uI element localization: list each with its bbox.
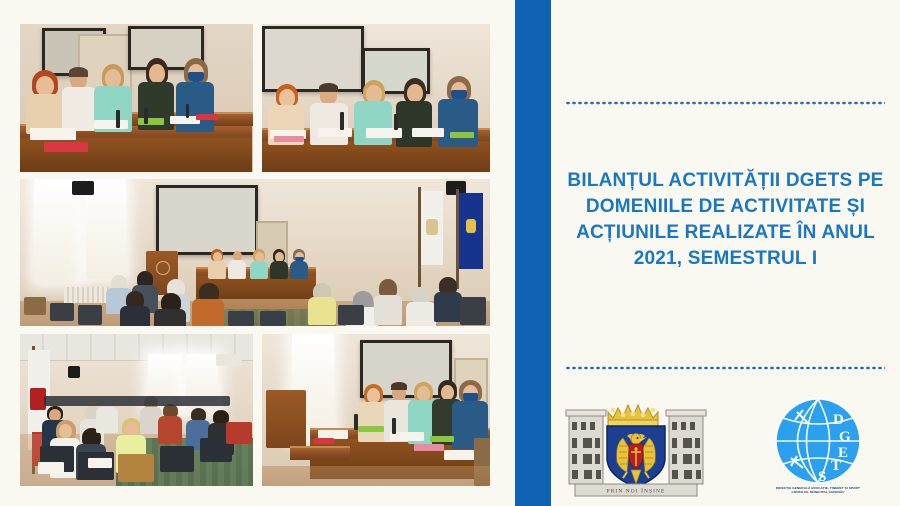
dgets-letter-s: S	[818, 469, 826, 485]
dgets-letter-t: T	[831, 458, 841, 474]
right-panel: BILANȚUL ACTIVITĂȚII DGETS PE DOMENIILE …	[551, 0, 900, 506]
logo-row: PRIN NOI ÎNȘINE	[551, 392, 900, 504]
title-line-1: BILANȚUL ACTIVITĂȚII DGETS PE	[561, 168, 890, 194]
dotted-rule-top	[565, 101, 885, 105]
dgets-letter-d: D	[833, 412, 844, 428]
title-line-4: 2021, SEMESTRUL I	[561, 246, 890, 272]
photo-middle-wide	[20, 179, 490, 326]
photo-bottom-right	[262, 334, 490, 486]
photo-top-left	[20, 24, 253, 172]
photo-collage	[20, 24, 490, 486]
presentation-slide: BILANȚUL ACTIVITĂȚII DGETS PE DOMENIILE …	[0, 0, 900, 506]
coat-of-arms-motto: PRIN NOI ÎNȘINE	[607, 486, 666, 494]
vertical-blue-divider	[515, 0, 551, 506]
page-title: BILANȚUL ACTIVITĂȚII DGETS PE DOMENIILE …	[561, 168, 890, 272]
dgets-caption-line-2: CONSILIUL MUNICIPAL CHIȘINĂU	[747, 490, 889, 494]
dgets-letter-g: G	[839, 429, 851, 445]
chisinau-coat-of-arms-logo: PRIN NOI ÎNȘINE	[561, 392, 711, 500]
title-line-2: DOMENIILE DE ACTIVITATE ȘI	[561, 194, 890, 220]
dgets-caption: DIRECȚIA GENERALĂ EDUCAȚIE, TINERET ȘI S…	[747, 486, 889, 495]
dgets-logo: D G E T S DIRECȚIA GENERALĂ EDUCAȚIE, TI…	[747, 396, 889, 500]
coat-of-arms-icon: PRIN NOI ÎNȘINE	[561, 392, 711, 500]
title-line-3: ACȚIUNILE REALIZATE ÎN ANUL	[561, 220, 890, 246]
dotted-rule-bottom	[565, 366, 885, 370]
photo-top-right	[262, 24, 490, 172]
dgets-globe-icon: D G E T S	[747, 396, 889, 488]
photo-bottom-left	[20, 334, 253, 486]
